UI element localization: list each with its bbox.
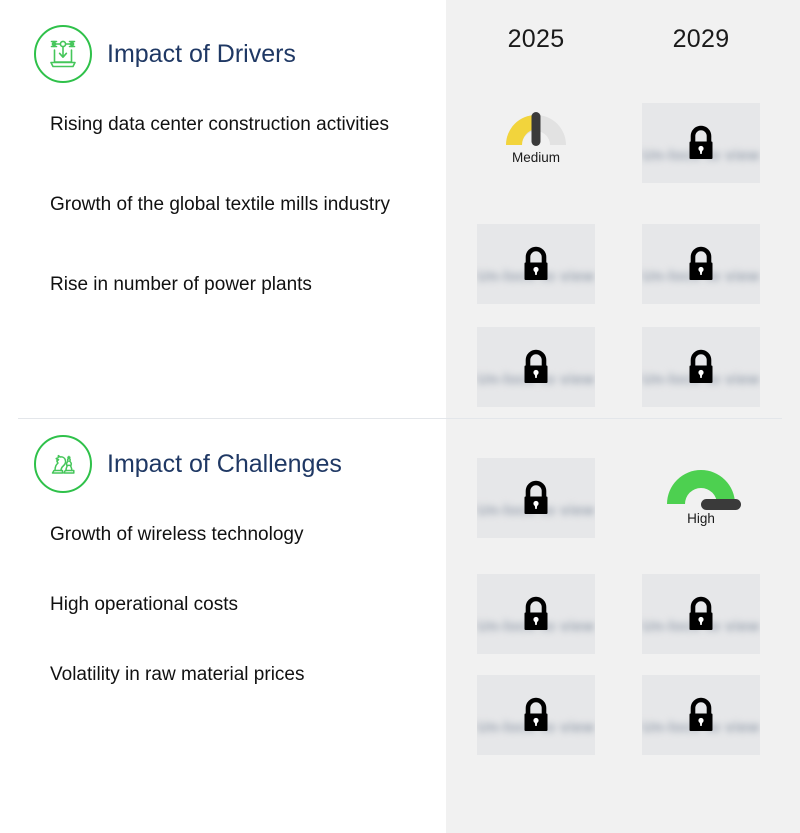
lock-icon — [684, 123, 718, 163]
challenge-item-label-1: Growth of wireless technology — [50, 520, 430, 550]
column-header-2025: 2025 — [477, 25, 595, 54]
cell-drivers-2-2029[interactable]: Un-lock to view — [642, 224, 760, 304]
cell-drivers-3-2025[interactable]: Un-lock to view — [477, 327, 595, 407]
section-challenges-header: Impact of Challenges — [0, 428, 446, 500]
lock-icon — [684, 594, 718, 634]
locked-tile: Un-lock to view — [477, 675, 595, 755]
cell-drivers-3-2029[interactable]: Un-lock to view — [642, 327, 760, 407]
cell-drivers-1-2029[interactable]: Un-lock to view — [642, 103, 760, 183]
column-header-2029: 2029 — [642, 25, 760, 54]
cell-challenges-2-2025[interactable]: Un-lock to view — [477, 574, 595, 654]
impact-matrix-page: 2025 2029 — [0, 0, 800, 833]
cell-challenges-3-2029[interactable]: Un-lock to view — [642, 675, 760, 755]
driver-item-label-2: Growth of the global textile mills indus… — [50, 190, 430, 220]
lock-icon — [519, 594, 553, 634]
driver-item-label-1: Rising data center construction activiti… — [50, 110, 430, 140]
locked-tile: Un-lock to view — [477, 327, 595, 407]
cell-challenges-1-2025[interactable]: Un-lock to view — [477, 458, 595, 538]
locked-tile: Un-lock to view — [642, 574, 760, 654]
section-divider — [18, 418, 782, 419]
challenges-chess-pieces-icon — [34, 435, 92, 493]
locked-tile: Un-lock to view — [642, 675, 760, 755]
lock-icon — [684, 244, 718, 284]
locked-tile: Un-lock to view — [642, 224, 760, 304]
locked-tile: Un-lock to view — [642, 327, 760, 407]
locked-tile: Un-lock to view — [477, 458, 595, 538]
section-challenges-title: Impact of Challenges — [107, 450, 342, 479]
gauge-high: High — [642, 458, 760, 538]
section-drivers-title: Impact of Drivers — [107, 40, 296, 69]
lock-icon — [519, 478, 553, 518]
driver-item-label-3: Rise in number of power plants — [50, 270, 430, 300]
cell-drivers-2-2025[interactable]: Un-lock to view — [477, 224, 595, 304]
cell-challenges-1-2029[interactable]: High — [642, 458, 760, 538]
lock-icon — [519, 244, 553, 284]
gauge-medium-label: Medium — [512, 150, 560, 165]
challenge-item-label-3: Volatility in raw material prices — [50, 660, 430, 690]
locked-tile: Un-lock to view — [477, 224, 595, 304]
section-drivers: Impact of Drivers Rising data center con… — [0, 18, 446, 90]
locked-tile: Un-lock to view — [477, 574, 595, 654]
section-challenges: Impact of Challenges Growth of wireless … — [0, 428, 446, 500]
cell-drivers-1-2025[interactable]: Medium — [477, 103, 595, 183]
lock-icon — [684, 695, 718, 735]
challenge-item-label-2: High operational costs — [50, 590, 430, 620]
cell-challenges-3-2025[interactable]: Un-lock to view — [477, 675, 595, 755]
section-drivers-header: Impact of Drivers — [0, 18, 446, 90]
lock-icon — [519, 695, 553, 735]
gauge-high-label: High — [687, 511, 715, 526]
locked-tile: Un-lock to view — [642, 103, 760, 183]
lock-icon — [519, 347, 553, 387]
cell-challenges-2-2029[interactable]: Un-lock to view — [642, 574, 760, 654]
gauge-medium: Medium — [477, 103, 595, 183]
drivers-laptop-download-icon — [34, 25, 92, 83]
lock-icon — [684, 347, 718, 387]
